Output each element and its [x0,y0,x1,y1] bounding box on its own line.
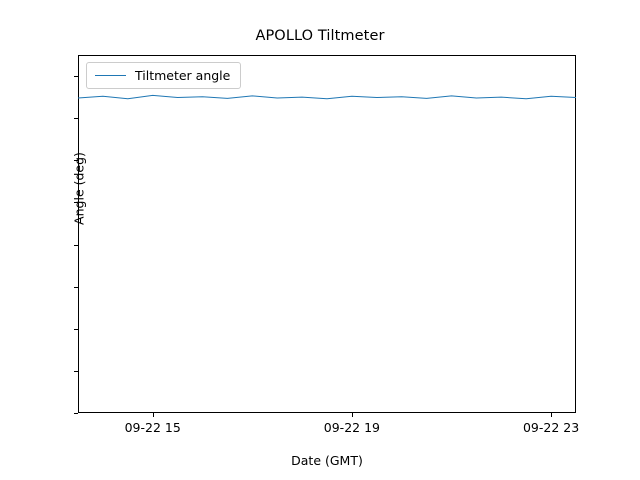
y-tick-mark [74,329,78,330]
chart-legend: Tiltmeter angle [86,62,241,89]
x-tick-mark [153,413,154,417]
plot-axes-area: 01020304050607080 09-22 1509-22 1909-22 … [78,55,576,413]
y-tick-mark [74,371,78,372]
x-tick-mark [551,413,552,417]
y-tick-mark [74,76,78,77]
legend-line-swatch [95,75,126,76]
y-tick-mark [74,118,78,119]
x-tick-label: 09-22 15 [93,421,213,434]
x-tick-mark [352,413,353,417]
series-polyline-tiltmeter-angle [78,68,576,398]
chart-figure: APOLLO Tiltmeter 01020304050607080 09-22… [0,0,640,480]
y-axis-label: Angle (deg) [72,136,87,242]
legend-entry-label: Tiltmeter angle [135,68,230,83]
x-tick-label: 09-22 23 [491,421,611,434]
x-tick-label: 09-22 19 [292,421,412,434]
y-tick-mark [74,287,78,288]
y-tick-mark [74,413,78,414]
tiltmeter-angle-line [78,55,576,413]
y-tick-mark [74,245,78,246]
chart-title: APOLLO Tiltmeter [0,28,640,44]
x-axis-label: Date (GMT) [78,453,576,468]
